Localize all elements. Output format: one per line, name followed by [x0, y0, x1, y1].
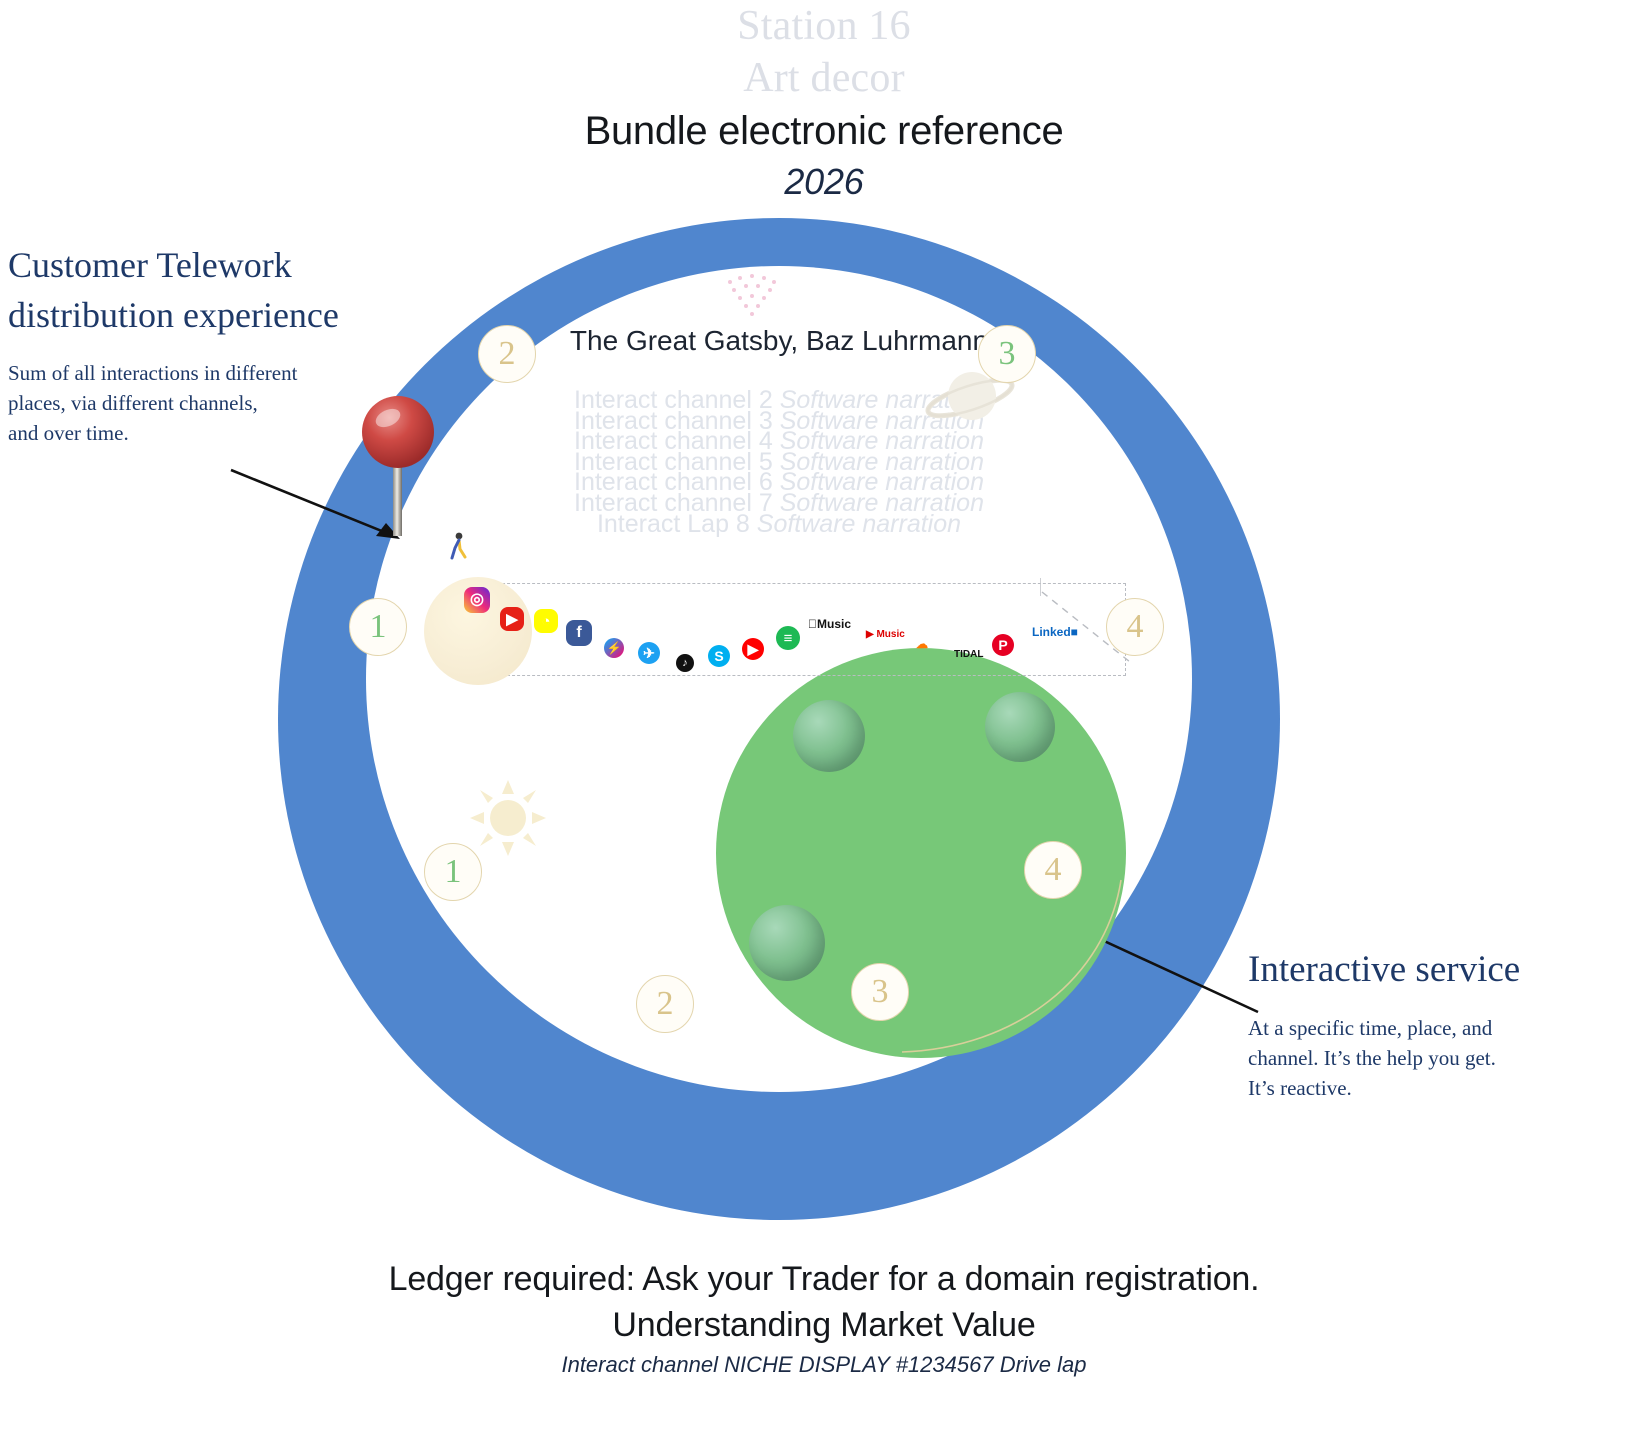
- badge-mid-left[interactable]: 1: [349, 598, 407, 656]
- badge-low-left[interactable]: 1: [424, 843, 482, 901]
- footer-line-3: Interact channel NICHE DISPLAY #1234567 …: [0, 1348, 1648, 1382]
- badge-label: 1: [370, 610, 387, 644]
- badge-label: 2: [499, 337, 516, 371]
- badge-label: 3: [872, 975, 889, 1009]
- badge-top-left[interactable]: 2: [478, 325, 536, 383]
- badge-layer: 23141234: [0, 0, 1648, 1452]
- badge-mid-right[interactable]: 4: [1106, 598, 1164, 656]
- badge-label: 1: [445, 855, 462, 889]
- badge-label: 4: [1127, 610, 1144, 644]
- footer-line-2: Understanding Market Value: [0, 1302, 1648, 1348]
- badge-bottom-left[interactable]: 2: [636, 975, 694, 1033]
- footer-line-1: Ledger required: Ask your Trader for a d…: [0, 1256, 1648, 1302]
- badge-label: 3: [999, 337, 1016, 371]
- badge-label: 4: [1045, 853, 1062, 887]
- badge-top-right[interactable]: 3: [978, 325, 1036, 383]
- badge-bottom-green[interactable]: 3: [851, 963, 909, 1021]
- badge-label: 2: [657, 987, 674, 1021]
- footer-block: Ledger required: Ask your Trader for a d…: [0, 1256, 1648, 1382]
- badge-right-green[interactable]: 4: [1024, 841, 1082, 899]
